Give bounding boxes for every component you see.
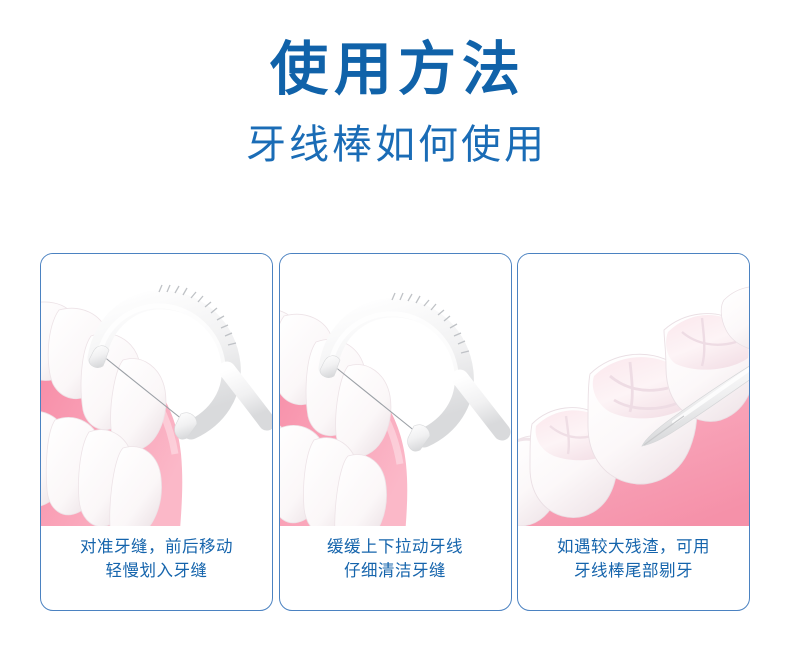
caption-line-2: 仔细清洁牙缝: [280, 559, 511, 584]
floss-pick-between-front-teeth-icon: [41, 254, 272, 526]
step-card-1: 对准牙缝，前后移动 轻慢划入牙缝: [40, 253, 273, 611]
step-2-illustration: [280, 254, 511, 526]
steps-row: 对准牙缝，前后移动 轻慢划入牙缝: [40, 253, 750, 611]
step-3-caption: 如遇较大残渣，可用 牙线棒尾部剔牙: [518, 535, 749, 585]
tooth-lower-4: [334, 455, 386, 526]
tooth-lower-4: [110, 447, 162, 526]
step-card-3: 如遇较大残渣，可用 牙线棒尾部剔牙: [517, 253, 750, 611]
step-1-illustration: [41, 254, 272, 526]
step-1-caption: 对准牙缝，前后移动 轻慢划入牙缝: [41, 535, 272, 585]
step-2-caption: 缓缓上下拉动牙线 仔细清洁牙缝: [280, 535, 511, 585]
header: 使用方法 牙线棒如何使用: [0, 40, 790, 167]
step-3-illustration: [518, 254, 749, 526]
caption-line-1: 对准牙缝，前后移动: [41, 535, 272, 560]
step-card-2: 缓缓上下拉动牙线 仔细清洁牙缝: [279, 253, 512, 611]
caption-line-1: 如遇较大残渣，可用: [518, 535, 749, 560]
caption-line-2: 牙线棒尾部剔牙: [518, 559, 749, 584]
page-subtitle: 牙线棒如何使用: [0, 123, 790, 167]
floss-pick-pulling-floss-icon: [280, 254, 511, 526]
caption-line-1: 缓缓上下拉动牙线: [280, 535, 511, 560]
page-title: 使用方法: [0, 40, 790, 101]
infographic-page: 使用方法 牙线棒如何使用: [0, 0, 790, 660]
caption-line-2: 轻慢划入牙缝: [41, 559, 272, 584]
pick-tail-cleaning-molars-icon: [518, 254, 749, 526]
